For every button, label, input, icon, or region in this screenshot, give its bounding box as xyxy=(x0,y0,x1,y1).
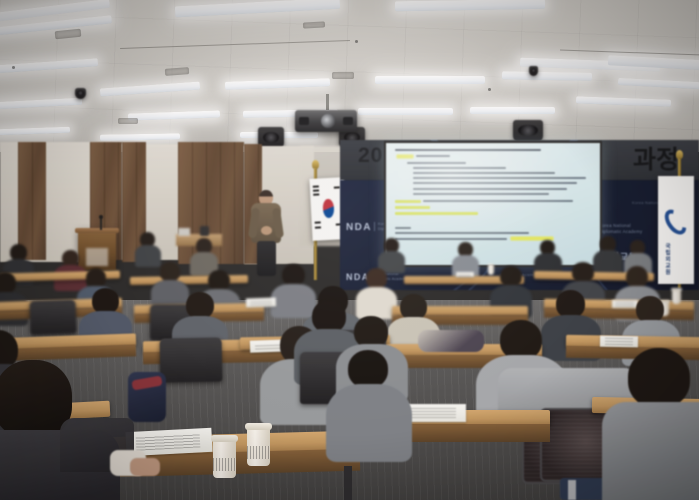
podium-top xyxy=(75,228,119,233)
ceiling-light-panel xyxy=(375,76,485,84)
slide-footer-line xyxy=(395,238,507,240)
slide-bullet-line xyxy=(413,167,506,169)
handout-paper xyxy=(612,300,638,308)
head xyxy=(572,262,594,283)
cup-lid xyxy=(211,435,238,442)
ceiling-projector xyxy=(295,110,357,132)
slide-tag-highlight xyxy=(397,155,413,158)
government-emblem-icon xyxy=(661,206,691,239)
presenter-legs xyxy=(257,241,276,276)
desk xyxy=(130,275,248,285)
slide-footer-row xyxy=(395,237,592,240)
banner-knda-subtitle-main: Korea National Diplomatic Academy xyxy=(599,223,651,236)
head xyxy=(366,268,387,289)
slide-footer-label-line xyxy=(395,227,411,229)
chair-column xyxy=(568,480,576,500)
slide-bullet-line xyxy=(413,177,586,179)
coat-on-desk xyxy=(418,330,484,352)
cup-sleeve-print xyxy=(247,446,271,459)
slide-highlight-line xyxy=(395,212,478,215)
head xyxy=(556,290,585,318)
banner-knda-logo-left: NDA xyxy=(346,222,372,233)
banner-logo-divider xyxy=(374,222,375,231)
projector-mount-stem xyxy=(326,94,329,110)
ceiling-light-panel xyxy=(470,107,555,114)
head xyxy=(626,266,648,288)
desk-leg xyxy=(344,466,352,500)
slide-footer-line xyxy=(395,232,529,234)
trigram-bar xyxy=(313,186,319,188)
projection-screen xyxy=(384,141,602,267)
trigram-bar xyxy=(315,222,321,224)
chair xyxy=(160,337,223,382)
projected-slide xyxy=(386,143,600,265)
trigram-bar xyxy=(315,226,321,228)
slide-content xyxy=(395,149,592,261)
head xyxy=(0,272,16,294)
front-table-item xyxy=(178,228,190,236)
ceiling-light-panel xyxy=(358,108,453,115)
slide-footer-block xyxy=(395,227,592,240)
slide-highlight-block xyxy=(395,200,592,215)
head xyxy=(636,296,664,323)
water-bottle xyxy=(488,264,494,275)
ceiling-speaker xyxy=(513,120,543,142)
handout-paper xyxy=(456,272,474,277)
ceiling-speaker xyxy=(75,88,86,99)
slide-highlight-line xyxy=(423,200,573,202)
paper-coffee-cup xyxy=(672,290,681,304)
podium-panel xyxy=(86,248,108,266)
presenter-hands xyxy=(261,226,272,235)
government-flag: 국립외교원 xyxy=(658,176,694,284)
handout-paper xyxy=(600,336,638,348)
slide-highlight-row xyxy=(395,200,592,203)
head xyxy=(500,266,522,287)
slide-bullet-line xyxy=(413,182,577,184)
torso xyxy=(602,402,699,500)
lecture-hall-photo: 20 과정 NDA Korea National Diplomatic Acad… xyxy=(0,0,699,500)
head xyxy=(282,264,305,286)
presenter xyxy=(248,190,284,276)
torso xyxy=(356,287,397,319)
chair xyxy=(29,299,76,335)
slide-bullet-line xyxy=(413,188,567,190)
ceiling-light-panel xyxy=(502,71,592,81)
paper-coffee-cup xyxy=(247,428,270,466)
head xyxy=(186,292,214,319)
head xyxy=(208,270,230,291)
front-table-item xyxy=(200,226,209,236)
torso xyxy=(326,384,412,462)
podium-microphone xyxy=(100,218,102,230)
cup-lid xyxy=(671,288,682,291)
cup-lid xyxy=(245,423,272,430)
slide-subheading-line xyxy=(416,155,450,157)
slide-highlight-chip xyxy=(395,200,421,203)
ceiling-sensor xyxy=(355,40,358,43)
foreground-attendee-hand xyxy=(130,458,160,476)
ceiling-vent xyxy=(303,21,325,28)
wood-wall-panel xyxy=(18,142,46,260)
ceiling-vent xyxy=(332,72,354,79)
trigram-bar xyxy=(314,193,320,195)
torso xyxy=(135,245,161,267)
head xyxy=(348,350,388,388)
ceiling-speaker xyxy=(529,66,538,76)
ceiling-sensor xyxy=(12,66,15,69)
slide-highlight-line xyxy=(395,206,430,209)
cup-sleeve-print xyxy=(213,458,237,471)
head xyxy=(160,262,180,282)
head xyxy=(86,268,106,288)
banner-year-text: 20 xyxy=(358,144,383,168)
head xyxy=(628,348,690,408)
slide-heading-line xyxy=(395,149,541,151)
ceiling-sensor xyxy=(488,88,491,91)
slide-bullet-line xyxy=(413,172,555,174)
ceiling-vent xyxy=(118,118,138,124)
slide-bullet-line xyxy=(413,193,549,195)
handout-paper xyxy=(246,297,276,307)
banner-program-text: 과정 xyxy=(633,140,679,176)
taeguk-circle xyxy=(322,199,334,218)
trigram-bar xyxy=(313,190,319,192)
paper-coffee-cup xyxy=(213,440,236,478)
head xyxy=(500,320,542,360)
government-flag-label: 국립외교원 xyxy=(663,243,671,276)
slide-tag-row xyxy=(397,155,592,158)
slide-bullet-line xyxy=(407,162,466,164)
trigram-bar xyxy=(334,186,340,188)
torso xyxy=(271,284,316,318)
